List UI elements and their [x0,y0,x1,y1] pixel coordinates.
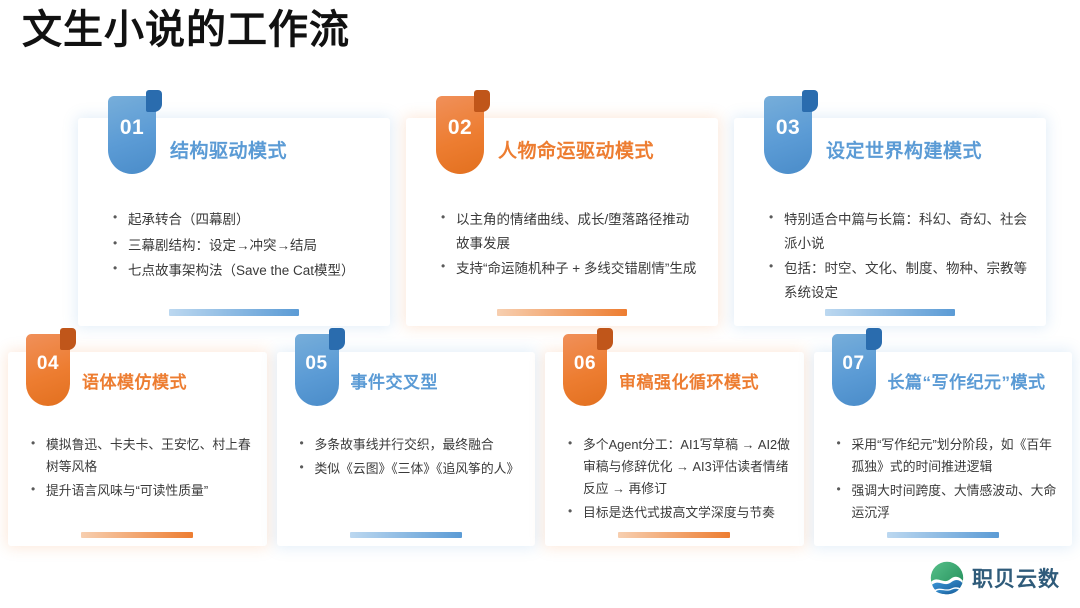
accent-bar [169,309,299,316]
list-item: 类似《云图》《三体》《追风筝的人》 [299,458,524,480]
list-item: 七点故事架构法（Save the Cat模型） [112,259,372,283]
badge-fold-icon [60,328,76,350]
badge-fold-icon [597,328,613,350]
card-07[interactable]: 07 长篇“写作纪元”模式 采用“写作纪元”划分阶段，如《百年孤独》式的时间推进… [814,352,1073,546]
accent-bar [497,309,627,316]
bullet-list: 模拟鲁迅、卡夫卡、王安忆、村上春树等风格 提升语言风味与“可读性质量” [30,434,255,504]
badge-number: 02 [448,116,472,140]
accent-bar [825,309,955,316]
badge-fold-icon [474,90,490,112]
list-item: 特别适合中篇与长篇：科幻、奇幻、社会派小说 [768,208,1028,255]
list-item: 包括：时空、文化、制度、物种、宗教等系统设定 [768,257,1028,304]
badge-03: 03 [764,96,812,174]
badge-number: 05 [305,353,327,375]
card-01[interactable]: 01 结构驱动模式 起承转合（四幕剧） 三幕剧结构：设定→冲突→结局 七点故事架… [78,118,390,326]
card-06[interactable]: 06 审稿强化循环模式 多个Agent分工：AI1写草稿 → AI2做审稿与修辞… [545,352,804,546]
slide-root: 文生小说的工作流 01 结构驱动模式 起承转合（四幕剧） 三幕剧结构：设定→冲突… [0,0,1080,608]
list-item: 多条故事线并行交织，最终融合 [299,434,524,456]
list-item: 提升语言风味与“可读性质量” [30,480,255,502]
wave-circle-logo-icon [929,560,965,596]
card-04[interactable]: 04 语体模仿模式 模拟鲁迅、卡夫卡、王安忆、村上春树等风格 提升语言风味与“可… [8,352,267,546]
card-row-bottom: 04 语体模仿模式 模拟鲁迅、卡夫卡、王安忆、村上春树等风格 提升语言风味与“可… [8,352,1072,546]
list-item: 多个Agent分工：AI1写草稿 → AI2做审稿与修辞优化 → AI3评估读者… [567,434,792,500]
badge-01: 01 [108,96,156,174]
bullet-list: 特别适合中篇与长篇：科幻、奇幻、社会派小说 包括：时空、文化、制度、物种、宗教等… [768,208,1028,307]
badge-number: 03 [776,116,800,140]
badge-number: 01 [120,116,144,140]
card-title: 审稿强化循环模式 [619,372,798,393]
bullet-list: 多条故事线并行交织，最终融合 类似《云图》《三体》《追风筝的人》 [299,434,524,482]
logo-text: 职贝云数 [972,563,1060,593]
card-02[interactable]: 02 人物命运驱动模式 以主角的情绪曲线、成长/堕落路径推动故事发展 支持“命运… [406,118,718,326]
bullet-list: 采用“写作纪元”划分阶段，如《百年孤独》式的时间推进逻辑 强调大时间跨度、大情感… [836,434,1061,526]
card-title: 长篇“写作纪元”模式 [888,372,1067,393]
list-item: 起承转合（四幕剧） [112,208,372,232]
badge-number: 04 [37,353,59,375]
accent-bar [350,532,462,538]
badge-fold-icon [146,90,162,112]
brand-logo: 职贝云数 [929,560,1060,596]
badge-number: 07 [842,353,864,375]
card-title: 语体模仿模式 [82,372,261,393]
list-item: 采用“写作纪元”划分阶段，如《百年孤独》式的时间推进逻辑 [836,434,1061,478]
accent-bar [618,532,730,538]
badge-04: 04 [26,334,70,406]
card-05[interactable]: 05 事件交叉型 多条故事线并行交织，最终融合 类似《云图》《三体》《追风筝的人… [277,352,536,546]
badge-number: 06 [574,353,596,375]
badge-fold-icon [866,328,882,350]
badge-05: 05 [295,334,339,406]
badge-02: 02 [436,96,484,174]
list-item: 以主角的情绪曲线、成长/堕落路径推动故事发展 [440,208,700,255]
bullet-list: 起承转合（四幕剧） 三幕剧结构：设定→冲突→结局 七点故事架构法（Save th… [112,208,372,285]
badge-07: 07 [832,334,876,406]
page-title: 文生小说的工作流 [22,6,350,54]
card-title: 结构驱动模式 [170,140,380,164]
badge-fold-icon [329,328,345,350]
list-item: 目标是迭代式拔高文学深度与节奏 [567,502,792,524]
list-item: 支持“命运随机种子 + 多线交错剧情”生成 [440,257,700,281]
card-03[interactable]: 03 设定世界构建模式 特别适合中篇与长篇：科幻、奇幻、社会派小说 包括：时空、… [734,118,1046,326]
card-title: 设定世界构建模式 [826,140,1036,164]
badge-fold-icon [802,90,818,112]
card-row-top: 01 结构驱动模式 起承转合（四幕剧） 三幕剧结构：设定→冲突→结局 七点故事架… [78,118,1046,326]
card-title: 人物命运驱动模式 [498,140,708,164]
badge-06: 06 [563,334,607,406]
list-item: 三幕剧结构：设定→冲突→结局 [112,234,372,258]
accent-bar [81,532,193,538]
accent-bar [887,532,999,538]
list-item: 模拟鲁迅、卡夫卡、王安忆、村上春树等风格 [30,434,255,478]
bullet-list: 以主角的情绪曲线、成长/堕落路径推动故事发展 支持“命运随机种子 + 多线交错剧… [440,208,700,283]
list-item: 强调大时间跨度、大情感波动、大命运沉浮 [836,480,1061,524]
card-title: 事件交叉型 [351,372,530,393]
bullet-list: 多个Agent分工：AI1写草稿 → AI2做审稿与修辞优化 → AI3评估读者… [567,434,792,526]
